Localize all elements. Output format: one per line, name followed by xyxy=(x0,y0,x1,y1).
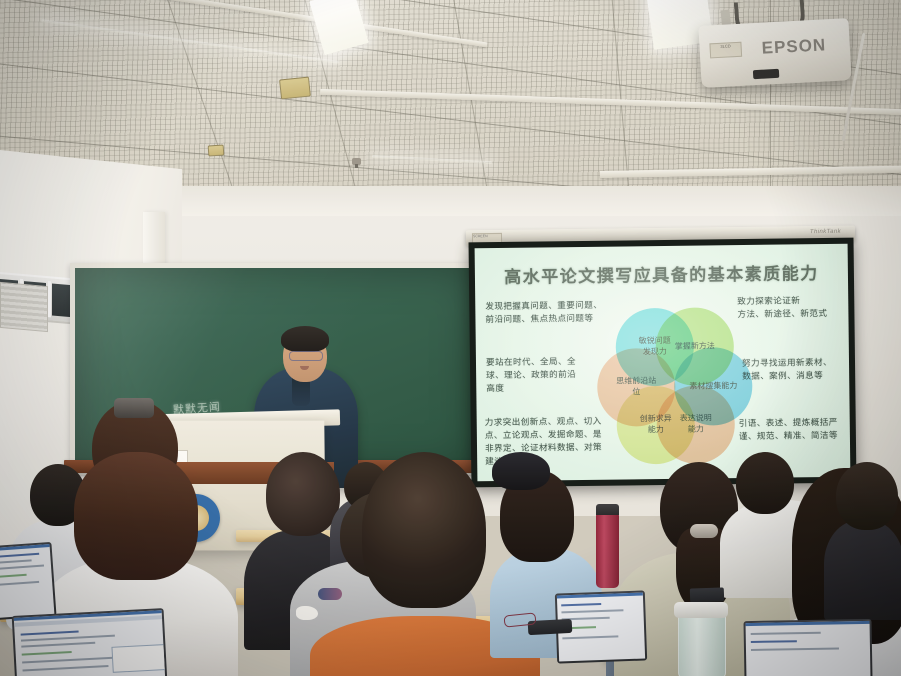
laptop-lid[interactable] xyxy=(743,619,872,676)
slide-text-left-1: 发现把握真问题、重要问题、 前沿问题、焦点热点问题等 xyxy=(485,299,605,326)
hair-tie-icon xyxy=(690,524,718,538)
audience-torso xyxy=(824,520,901,620)
audience-hair xyxy=(74,452,198,580)
audience-head xyxy=(362,452,486,608)
slide-text-right-1: 致力探索论证新 方法、新途径、新范式 xyxy=(737,294,850,321)
laptop-screen[interactable] xyxy=(0,544,54,618)
water-bottle[interactable] xyxy=(678,612,726,676)
audience-head xyxy=(836,462,898,530)
audience-head xyxy=(266,452,340,536)
projector-badge: 3LCD xyxy=(709,42,742,59)
presenter-glasses-icon xyxy=(289,351,323,361)
hair-bow-icon xyxy=(492,452,550,490)
bottle-cap[interactable] xyxy=(674,602,728,618)
laptop-closed[interactable] xyxy=(690,587,724,602)
audience-head xyxy=(736,452,794,514)
thermos-bottle[interactable] xyxy=(596,512,619,588)
projection-screen: 高水平论文撰写应具备的基本素质能力 发现把握真问题、重要问题、 前沿问题、焦点热… xyxy=(469,238,857,488)
air-conditioner xyxy=(0,282,48,332)
ceiling-vent xyxy=(279,76,311,99)
projector-lens-icon xyxy=(753,69,779,79)
laptop-screen[interactable] xyxy=(14,610,166,676)
laptop-screen[interactable] xyxy=(746,621,871,676)
screen-brand-logo: ThinkTank xyxy=(810,229,841,235)
presenter-hair xyxy=(281,326,329,352)
laptop-lid[interactable] xyxy=(0,542,57,620)
wristband xyxy=(318,588,342,600)
laptop-lid[interactable] xyxy=(12,608,169,676)
ceiling-vent xyxy=(208,144,225,156)
bottle-cap[interactable] xyxy=(596,504,619,515)
slide-text-left-2: 要站在时代、全局、全 球、理论、政策的前沿 高度 xyxy=(486,355,582,395)
projector: 3LCD EPSON xyxy=(698,18,851,88)
slide-title: 高水平论文撰写应具备的基本素质能力 xyxy=(475,259,848,289)
petal-diagram: 敏锐问题 发现力 掌握新方法 素材搜集能力 表达说明 能力 创新求异 能力 思维… xyxy=(593,307,747,469)
projector-brand-label: EPSON xyxy=(761,35,826,58)
presentation-slide: 高水平论文撰写应具备的基本素质能力 发现把握真问题、重要问题、 前沿问题、焦点热… xyxy=(475,244,851,482)
tissue xyxy=(296,606,318,620)
slide-text-right-2: 努力寻找运用新素材、 数据、案例、消息等 xyxy=(742,356,850,383)
slide-text-right-3: 引语、表述、提炼概括严 谨、规范、精准、简洁等 xyxy=(739,416,851,443)
classroom-lecture-photo: 默默无闻 为你服务 留下 3LCD EPSON SCREEN ThinkTank… xyxy=(0,0,901,676)
sprinkler-head-icon xyxy=(352,158,361,165)
hair-clip-icon xyxy=(114,398,154,418)
